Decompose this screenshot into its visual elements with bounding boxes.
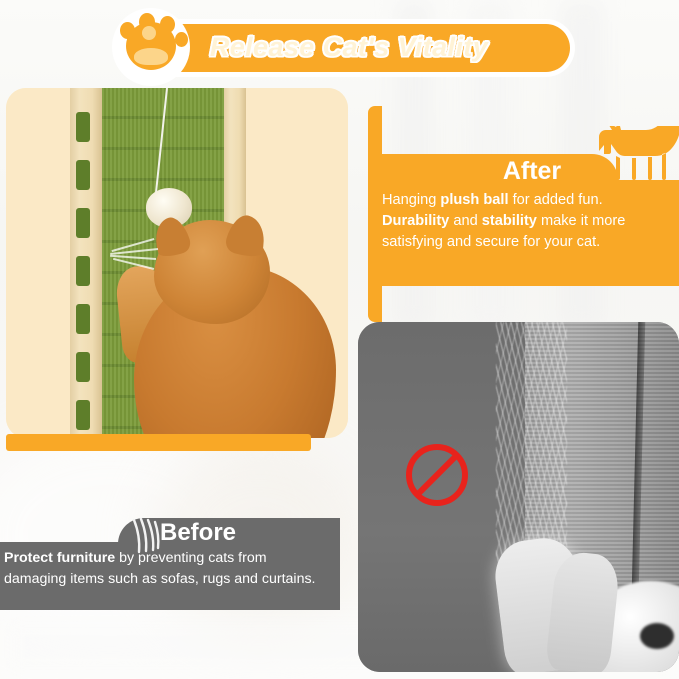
emphasis-text: plush ball [440,192,508,208]
description-line: Hanging plush ball for added fun. [382,190,671,211]
body-text: and [449,213,481,229]
banner-pill: Release Cat's Vitality [128,24,570,72]
body-text: Hanging [382,192,440,208]
description-line: satisfying and secure for your cat. [382,232,671,253]
infographic-canvas: Release Cat's Vitality [0,0,679,679]
emphasis-text: Durability [382,213,449,229]
rail-notch [76,304,90,334]
emphasis-text: Protect furniture [4,550,115,566]
body-text: for added fun. [509,192,603,208]
rail-notch [76,160,90,190]
frayed-fabric-damage [496,322,567,574]
before-info-panel: Before Protect furniture by preventing c… [0,518,340,610]
description-line: damaging items such as sofas, rugs and c… [4,569,336,590]
body-text: satisfying and secure for your cat. [382,234,600,250]
rail-notch [76,400,90,430]
description-line: Protect furniture by preventing cats fro… [4,548,336,569]
after-info-panel: After Hanging plush ball for added fun.D… [368,106,679,322]
rail-notch [76,208,90,238]
rail-notch [76,256,90,286]
after-photo-accent-bar [6,434,311,451]
before-description: Protect furniture by preventing cats fro… [4,548,336,591]
paw-print-icon [112,8,190,86]
body-text: make it more [537,213,625,229]
description-line: Durability and stability make it more [382,211,671,232]
emphasis-text: stability [482,213,537,229]
rail-notch [76,352,90,382]
before-label: Before [160,516,340,550]
no-entry-icon [403,441,471,509]
body-text: damaging items such as sofas, rugs and c… [4,571,316,587]
rail-notch [76,112,90,142]
scratch-marks-icon [128,516,162,554]
after-photo [6,88,348,438]
page-title: Release Cat's Vitality [128,32,570,63]
walking-cat-icon [586,126,679,188]
after-description: Hanging plush ball for added fun.Durabil… [382,190,671,253]
